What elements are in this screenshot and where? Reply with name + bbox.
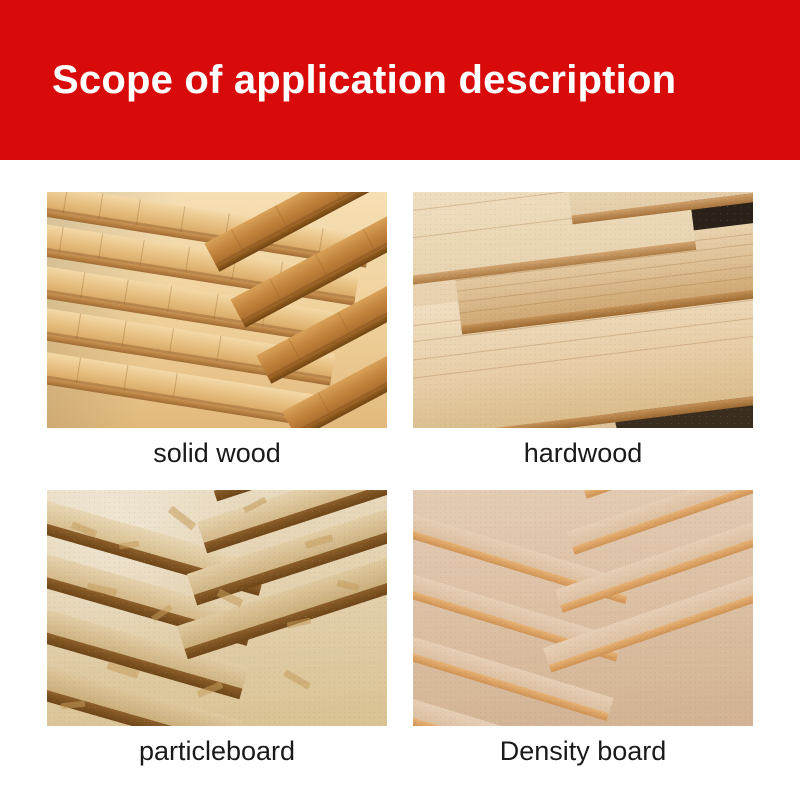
- product-application-card: Scope of application description: [0, 0, 800, 800]
- header-banner: Scope of application description: [0, 0, 800, 160]
- solid-wood-caption: solid wood: [47, 438, 387, 469]
- particleboard-caption: particleboard: [47, 736, 387, 767]
- material-cell-particleboard[interactable]: particleboard: [47, 490, 387, 767]
- density-board-caption: Density board: [413, 736, 753, 767]
- material-cell-density-board[interactable]: Density board: [413, 490, 753, 767]
- hardwood-caption: hardwood: [413, 438, 753, 469]
- density-board-photo: [413, 490, 753, 726]
- material-grid: solid wood: [0, 160, 800, 800]
- solid-wood-photo: [47, 192, 387, 428]
- particleboard-texture-noise: [47, 490, 387, 726]
- particleboard-photo: [47, 490, 387, 726]
- material-cell-solid-wood[interactable]: solid wood: [47, 192, 387, 469]
- hardwood-texture-noise: [413, 192, 753, 428]
- density-board-texture-noise: [413, 490, 753, 726]
- page-title: Scope of application description: [52, 58, 772, 103]
- hardwood-photo: [413, 192, 753, 428]
- material-cell-hardwood[interactable]: hardwood: [413, 192, 753, 469]
